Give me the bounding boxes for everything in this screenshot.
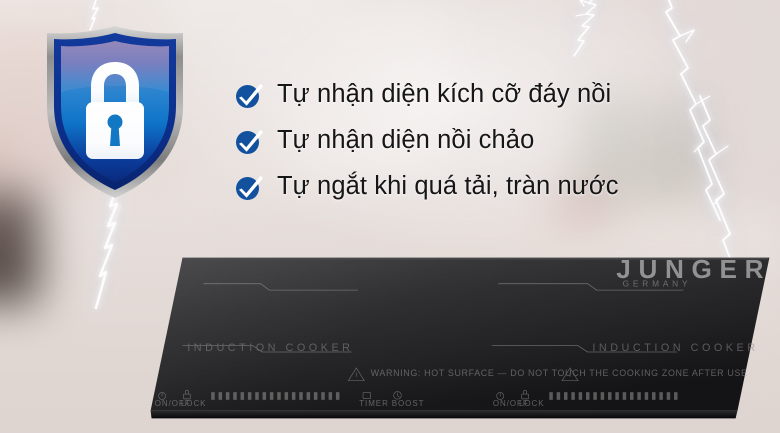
feature-list: Tự nhận diện kích cỡ đáy nồi Tự nhận diệ… (234, 72, 704, 210)
induction-cooktop: INDUCTION COOKER INDUCTION COOKER JUNGER… (140, 248, 780, 433)
brand-tagline: GERMANY (623, 278, 692, 288)
brand-logo: JUNGER GERMANY (616, 254, 771, 288)
check-circle-icon (234, 126, 264, 156)
feature-item: Tự nhận diện kích cỡ đáy nồi (234, 72, 704, 118)
feature-item: Tự nhận diện nồi chảo (234, 118, 704, 164)
cooking-zone-front-left: INDUCTION COOKER (183, 342, 354, 354)
check-circle-icon (234, 172, 264, 202)
promo-banner: Tự nhận diện kích cỡ đáy nồi Tự nhận diệ… (0, 0, 780, 433)
control-lock-label: LOCK (181, 399, 207, 408)
check-circle-icon (234, 80, 264, 110)
warning-text: WARNING: HOT SURFACE — DO NOT TOUCH THE … (371, 368, 748, 378)
feature-label: Tự nhận diện nồi chảo (277, 126, 534, 155)
control-boost-label: BOOST (392, 399, 425, 408)
feature-label: Tự nhận diện kích cỡ đáy nồi (277, 80, 611, 109)
shield-lock-icon (36, 22, 194, 202)
feature-item: Tự ngắt khi quá tải, tràn nước (234, 164, 704, 210)
feature-label: Tự ngắt khi quá tải, tràn nước (277, 172, 619, 201)
zone-label-right: INDUCTION COOKER (592, 342, 758, 354)
zone-label-left: INDUCTION COOKER (187, 342, 353, 354)
control-lock-label: LOCK (519, 399, 545, 408)
control-timer-label: TIMER (359, 399, 389, 408)
